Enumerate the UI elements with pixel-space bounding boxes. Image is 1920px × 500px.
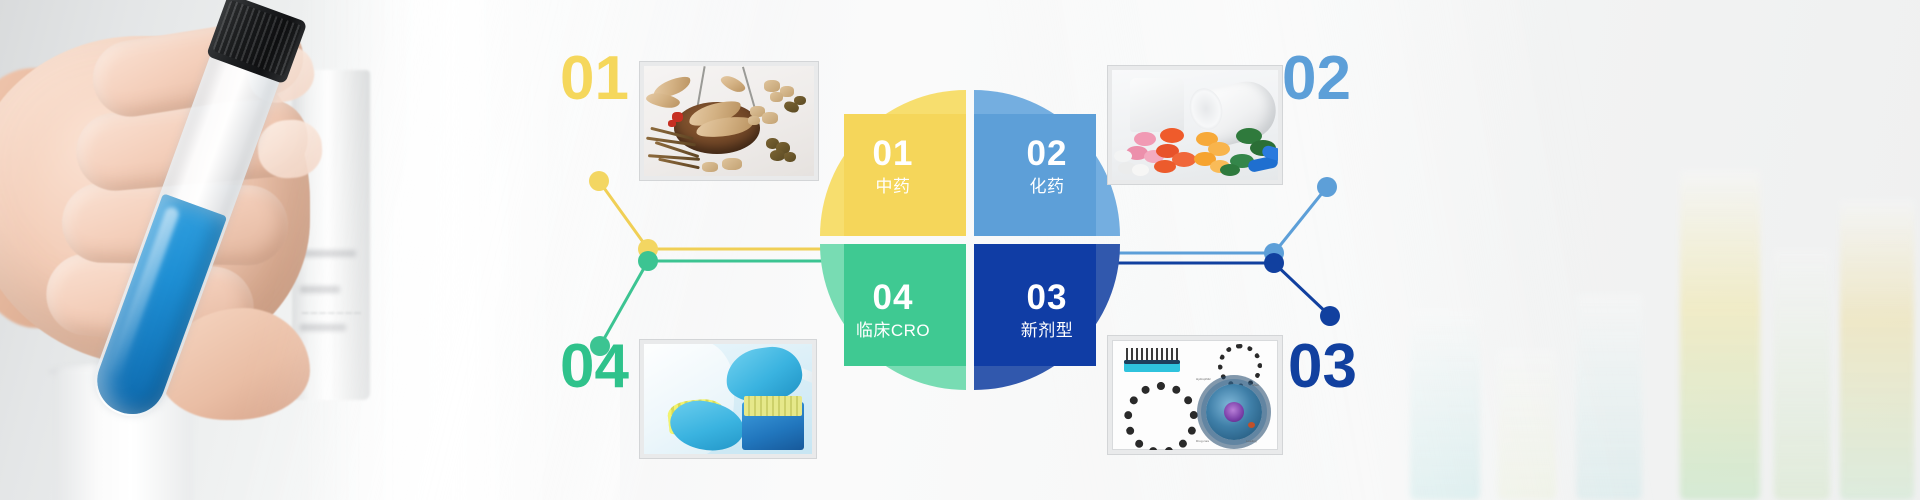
connector-line-02-diagonal [1274, 187, 1327, 253]
quadrant-03-text: 03 新剂型 [974, 280, 1120, 339]
connector-dot-01-outer [589, 171, 609, 191]
background-bottle [1130, 78, 1184, 132]
connector-dot-03-outer [1320, 306, 1340, 326]
quadrant-02-text: 02 化药 [974, 136, 1120, 195]
thumbnail-04-clinical-lab[interactable] [640, 340, 816, 458]
wheel-quadrant-01-chinese-medicine[interactable]: 01 中药 [820, 90, 966, 236]
thumbnail-01-chinese-herbs[interactable] [640, 62, 818, 180]
banner-root: _______ [0, 0, 1920, 500]
outer-number-04: 04 [560, 336, 629, 398]
quadrant-04-number: 04 [820, 280, 966, 315]
quadrant-01-text: 01 中药 [820, 136, 966, 195]
quadrant-04-label: 临床CRO [820, 322, 966, 339]
quadrant-02-number: 02 [974, 136, 1120, 171]
rack-tips [744, 396, 802, 416]
segment-wheel: 01 中药 02 化药 04 临床CRO 03 新剂型 [820, 90, 1120, 390]
quadrant-01-label: 中药 [820, 178, 966, 195]
wheel-quadrant-04-clinical-cro[interactable]: 04 临床CRO [820, 244, 966, 390]
outer-number-03: 03 [1288, 336, 1357, 398]
connector-dot-04-elbow [638, 251, 658, 271]
connector-line-03-diagonal [1274, 263, 1330, 316]
quadrant-03-number: 03 [974, 280, 1120, 315]
connector-dot-02-outer [1317, 177, 1337, 197]
connector-line-01-diagonal [599, 181, 648, 249]
wheel-quadrant-03-new-dosage-form[interactable]: 03 新剂型 [974, 244, 1120, 390]
outer-number-01: 01 [560, 48, 629, 110]
quadrant-02-label: 化药 [974, 178, 1120, 195]
thumbnail-03-drug-delivery-diagram[interactable]: Hydrophilic Shell Drug core Loading [1108, 336, 1282, 454]
quadrant-03-label: 新剂型 [974, 322, 1120, 339]
wheel-quadrant-02-chemical-drug[interactable]: 02 化药 [974, 90, 1120, 236]
quadrant-04-text: 04 临床CRO [820, 280, 966, 339]
outer-number-02: 02 [1282, 48, 1351, 110]
quadrant-01-number: 01 [820, 136, 966, 171]
connector-dot-03-elbow [1264, 253, 1284, 273]
thumbnail-02-pills[interactable] [1108, 66, 1282, 184]
